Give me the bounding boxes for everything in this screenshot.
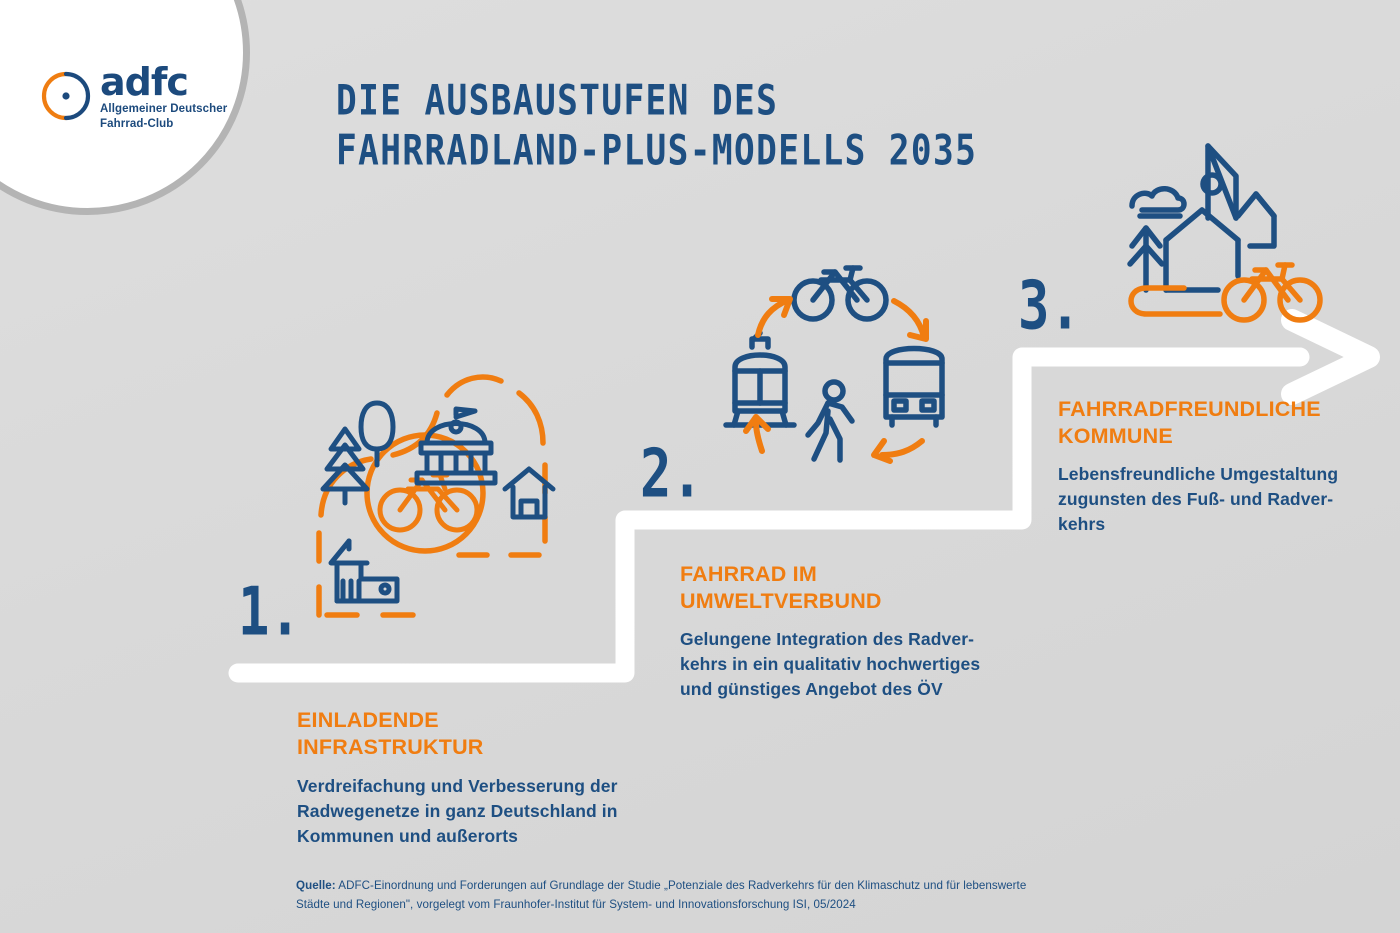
infographic-canvas: adfc Allgemeiner Deutscher Fahrrad-Club … <box>0 0 1400 933</box>
step-2-body-line2: kehrs in ein qualitativ hochwertiges <box>680 652 1005 677</box>
bus-icon <box>886 349 942 426</box>
step-1-body-line1: Verdreifachung und Verbesserung der <box>297 774 642 799</box>
adfc-subtitle-line1: Allgemeiner Deutscher <box>100 102 227 117</box>
adfc-circle-mark-icon <box>40 70 92 122</box>
step-1-body-line2: Radwegenetze in ganz Deutschland in <box>297 799 642 824</box>
page-title-line2: FAHRRADLAND-PLUS-MODELLS 2035 <box>336 123 1043 179</box>
step-1-heading-line2: INFRASTRUKTUR <box>297 734 627 761</box>
step-1-heading: EINLADENDE INFRASTRUKTUR <box>297 707 627 761</box>
source-label: Quelle: <box>296 879 336 892</box>
step-2-body-line1: Gelungene Integration des Radver- <box>680 627 1005 652</box>
step-2-heading-line1: FAHRRAD IM <box>680 561 1010 588</box>
step-1-body: Verdreifachung und Verbesserung der Radw… <box>297 774 642 849</box>
step-2-icon-mobility-cycle <box>710 255 975 475</box>
step-3-body-line3: kehrs <box>1058 512 1368 537</box>
step-2-heading: FAHRRAD IM UMWELTVERBUND <box>680 561 1010 615</box>
step-3-icon-town <box>1098 128 1353 333</box>
page-title: DIE AUSBAUSTUFEN DES FAHRRADLAND-PLUS-MO… <box>336 76 1096 176</box>
step-1-body-line3: Kommunen und außerorts <box>297 824 642 849</box>
adfc-wordmark: adfc <box>100 62 227 102</box>
step-2-heading-line2: UMWELTVERBUND <box>680 588 1010 615</box>
bicycle-icon <box>794 268 886 319</box>
step-3-heading-line2: KOMMUNE <box>1058 423 1388 450</box>
step-2-body-line3: und günstiges Angebot des ÖV <box>680 677 1005 702</box>
step-1-heading-line1: EINLADENDE <box>297 707 627 734</box>
source-text: ADFC-Einordnung und Forderungen auf Grun… <box>296 879 1026 911</box>
source-note: Quelle: ADFC-Einordnung und Forderungen … <box>296 876 1036 914</box>
adfc-subtitle-line2: Fahrrad-Club <box>100 117 227 132</box>
step-2-number: 2. <box>640 440 703 507</box>
step-1-number: 1. <box>238 578 301 645</box>
step-3-body: Lebensfreundliche Umgestaltung zugunsten… <box>1058 462 1368 537</box>
step-3-heading: FAHRRADFREUNDLICHE KOMMUNE <box>1058 396 1388 450</box>
step-3-heading-line1: FAHRRADFREUNDLICHE <box>1058 396 1388 423</box>
step-3-body-line1: Lebensfreundliche Umgestaltung <box>1058 462 1368 487</box>
step-3-body-line2: zugunsten des Fuß- und Radver- <box>1058 487 1368 512</box>
tram-icon <box>726 333 794 425</box>
page-title-line1: DIE AUSBAUSTUFEN DES <box>336 73 1043 129</box>
step-3-number: 3. <box>1018 272 1081 339</box>
pedestrian-icon <box>808 382 852 460</box>
adfc-logo-text: adfc Allgemeiner Deutscher Fahrrad-Club <box>100 62 227 132</box>
adfc-logo-badge: adfc Allgemeiner Deutscher Fahrrad-Club <box>0 0 250 215</box>
step-1-icon-infrastructure <box>305 365 575 625</box>
adfc-logo: adfc Allgemeiner Deutscher Fahrrad-Club <box>40 62 250 152</box>
step-2-body: Gelungene Integration des Radver- kehrs … <box>680 627 1005 702</box>
